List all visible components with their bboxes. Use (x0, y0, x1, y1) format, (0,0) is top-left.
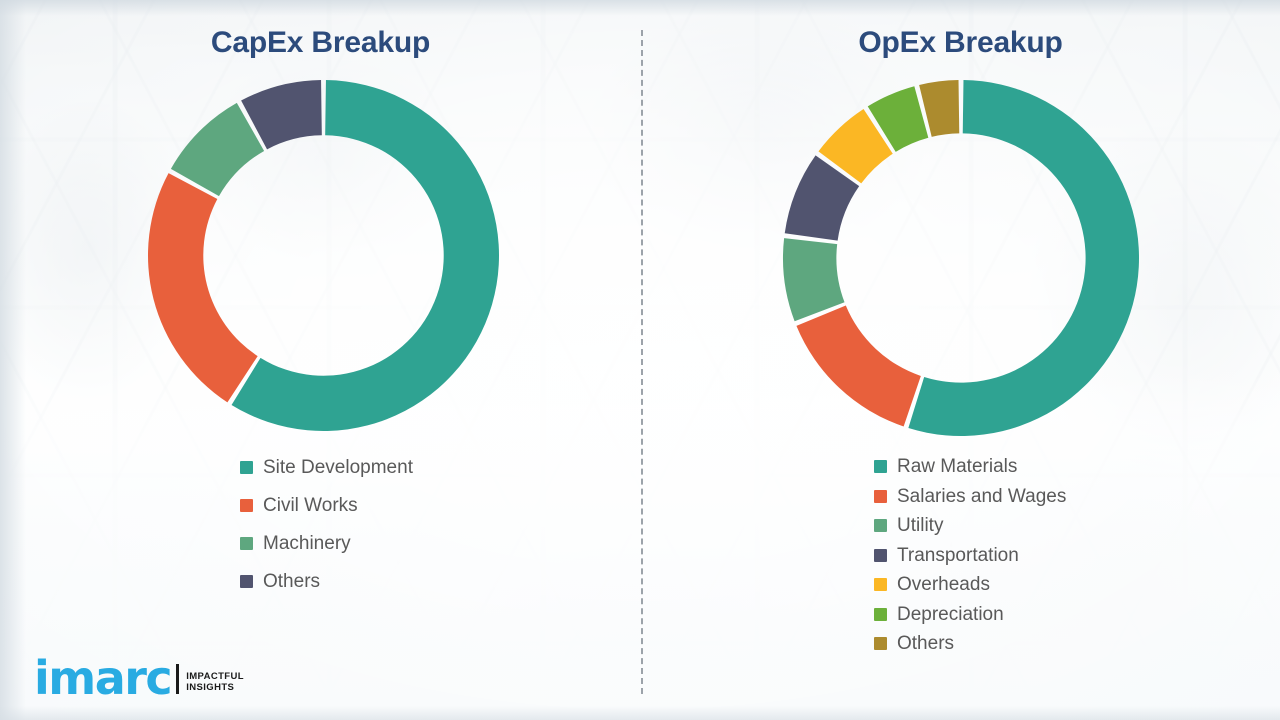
imarc-logo: imarc IMPACTFUL INSIGHTS (34, 659, 244, 698)
legend-label-site-development: Site Development (263, 458, 413, 477)
legend-label-others-capex: Others (263, 572, 320, 591)
opex-donut-svg (782, 79, 1140, 437)
legend-swatch-overheads (874, 578, 887, 591)
logo-tagline-line2: INSIGHTS (186, 682, 244, 694)
opex-panel: OpEx Breakup Raw Materials Salaries and … (641, 0, 1280, 720)
legend-swatch-others-capex (240, 575, 253, 588)
legend-item-others-capex[interactable]: Others (240, 562, 413, 600)
legend-item-transportation[interactable]: Transportation (874, 541, 1066, 571)
opex-slice-group (783, 80, 1139, 436)
legend-label-civil-works: Civil Works (263, 496, 358, 515)
logo-tagline-line1: IMPACTFUL (186, 671, 244, 683)
legend-swatch-civil-works (240, 499, 253, 512)
legend-swatch-utility (874, 519, 887, 532)
slide-canvas: CapEx Breakup Site Development Civil Wor… (0, 0, 1280, 720)
opex-chart-title: OpEx Breakup (641, 26, 1280, 60)
capex-legend: Site Development Civil Works Machinery O… (240, 448, 413, 600)
legend-swatch-machinery (240, 537, 253, 550)
opex-legend: Raw Materials Salaries and Wages Utility… (874, 452, 1066, 659)
legend-swatch-salaries-and-wages (874, 490, 887, 503)
legend-item-others-opex[interactable]: Others (874, 629, 1066, 659)
legend-label-transportation: Transportation (897, 546, 1019, 565)
imarc-wordmark: imarc (34, 659, 171, 698)
legend-label-salaries-and-wages: Salaries and Wages (897, 487, 1066, 506)
capex-slice-group (148, 80, 499, 431)
legend-item-salaries-and-wages[interactable]: Salaries and Wages (874, 482, 1066, 512)
legend-label-utility: Utility (897, 516, 943, 535)
legend-swatch-others-opex (874, 637, 887, 650)
legend-item-depreciation[interactable]: Depreciation (874, 600, 1066, 630)
legend-label-overheads: Overheads (897, 575, 990, 594)
capex-panel: CapEx Breakup Site Development Civil Wor… (0, 0, 641, 720)
legend-label-depreciation: Depreciation (897, 605, 1004, 624)
donut-slice-salaries-and-wages[interactable] (796, 305, 920, 426)
capex-chart-title: CapEx Breakup (0, 26, 641, 60)
donut-slice-civil-works[interactable] (148, 173, 258, 402)
legend-item-civil-works[interactable]: Civil Works (240, 486, 413, 524)
capex-donut-chart (147, 79, 500, 432)
legend-item-machinery[interactable]: Machinery (240, 524, 413, 562)
legend-item-site-development[interactable]: Site Development (240, 448, 413, 486)
legend-label-raw-materials: Raw Materials (897, 457, 1017, 476)
legend-item-utility[interactable]: Utility (874, 511, 1066, 541)
legend-swatch-site-development (240, 461, 253, 474)
opex-donut-chart (782, 79, 1140, 437)
donut-slice-utility[interactable] (783, 238, 845, 321)
legend-label-others-opex: Others (897, 634, 954, 653)
logo-tagline: IMPACTFUL INSIGHTS (186, 671, 244, 698)
legend-label-machinery: Machinery (263, 534, 351, 553)
legend-swatch-raw-materials (874, 460, 887, 473)
logo-divider-bar (176, 664, 179, 694)
legend-swatch-depreciation (874, 608, 887, 621)
legend-swatch-transportation (874, 549, 887, 562)
legend-item-overheads[interactable]: Overheads (874, 570, 1066, 600)
legend-item-raw-materials[interactable]: Raw Materials (874, 452, 1066, 482)
capex-donut-svg (147, 79, 500, 432)
